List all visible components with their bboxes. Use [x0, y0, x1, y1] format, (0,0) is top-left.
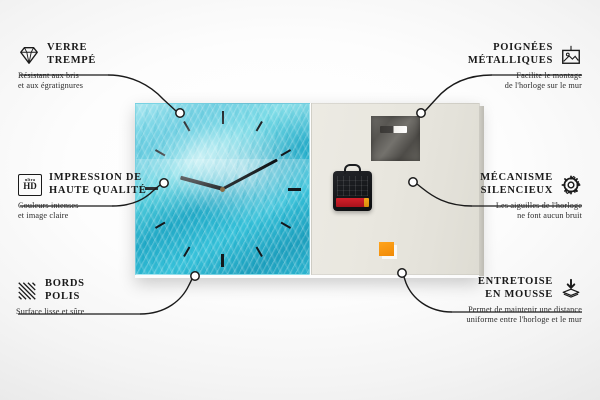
feature-title: POIGNÉES MÉTALLIQUES: [468, 42, 553, 67]
clock-center-pin: [220, 187, 225, 192]
feature-header: POIGNÉES MÉTALLIQUES: [402, 42, 582, 67]
feature-description: Permet de maintenir une distance uniform…: [402, 305, 582, 325]
clock-mechanism: [333, 171, 372, 211]
feature-description: Résistant aux bris et aux égratignures: [18, 71, 198, 91]
clock-hour-mark-bar: [280, 149, 291, 156]
ultra-hd-icon: ultra HD: [18, 174, 42, 196]
spacer-arrow-icon: [560, 278, 582, 300]
feature-title: BORDS POLIS: [45, 278, 85, 303]
feature-header: MÉCANISME SILENCIEUX: [402, 172, 582, 197]
gear-icon: [560, 174, 582, 196]
feature-header: VERRE TREMPÉ: [18, 42, 198, 67]
clock-hour-mark: [223, 188, 301, 190]
feature-description: Les aiguilles de l'horloge ne font aucun…: [402, 201, 582, 221]
clock-hour-mark-bar: [288, 188, 301, 191]
feature-title-line2: TREMPÉ: [47, 55, 96, 68]
clock-hour-mark-bar: [222, 111, 225, 124]
clock-hour-mark: [222, 121, 263, 190]
feature-description: Facilite le montage de l'horloge sur le …: [402, 71, 582, 91]
polished-edges-icon: [16, 280, 38, 302]
feature-desc-line2: ne font aucun bruit: [402, 211, 582, 221]
feature-desc-line2: et aux égratignures: [18, 81, 198, 91]
feature-description: Couleurs intenses et image claire: [18, 201, 198, 221]
feature-title-line1: POIGNÉES: [468, 42, 553, 55]
feature-desc-line1: Les aiguilles de l'horloge: [402, 201, 582, 211]
clock-hour-mark-bar: [221, 254, 224, 267]
feature-verre-trempe: VERRE TREMPÉ Résistant aux bris et aux é…: [18, 42, 198, 91]
clock-hour-mark-bar: [183, 121, 190, 132]
feature-header: BORDS POLIS: [16, 278, 196, 303]
battery: [336, 198, 366, 207]
clock-hour-mark: [222, 111, 224, 189]
metal-hanger-plate-icon: [371, 116, 420, 161]
feature-title-line1: ENTRETOISE: [478, 276, 553, 289]
picture-hanger-icon: [560, 44, 582, 66]
feature-title-line1: VERRE: [47, 42, 96, 55]
feature-title-line2: MÉTALLIQUES: [468, 55, 553, 68]
feature-desc-line1: Surface lisse et sûre: [16, 307, 196, 317]
feature-title: VERRE TREMPÉ: [47, 42, 96, 67]
glass-reflection-top: [136, 104, 309, 150]
mechanism-texture: [337, 176, 368, 196]
clock-hour-mark-bar: [183, 247, 190, 258]
feature-title-line1: IMPRESSION DE: [49, 172, 147, 185]
feature-poignees-metalliques: POIGNÉES MÉTALLIQUES Facilite le montage…: [402, 42, 582, 91]
feature-description: Surface lisse et sûre: [16, 307, 196, 317]
clock-hour-mark: [222, 189, 224, 267]
feature-impression-haute-qualite: ultra HD IMPRESSION DE HAUTE QUALITÉ Cou…: [18, 172, 198, 221]
clock-hour-mark-bar: [154, 222, 165, 229]
feature-title-line2: POLIS: [45, 291, 85, 304]
clock-minute-hand: [222, 159, 278, 191]
feature-desc-line1: Résistant aux bris: [18, 71, 198, 81]
feature-bords-polis: BORDS POLIS Surface lisse et sûre: [16, 278, 196, 317]
feature-title: MÉCANISME SILENCIEUX: [480, 172, 553, 197]
feature-header: ultra HD IMPRESSION DE HAUTE QUALITÉ: [18, 172, 198, 197]
feature-desc-line1: Couleurs intenses: [18, 201, 198, 211]
feature-header: ENTRETOISE EN MOUSSE: [402, 276, 582, 301]
feature-desc-line2: uniforme entre l'horloge et le mur: [402, 315, 582, 325]
feature-desc-line2: de l'horloge sur le mur: [402, 81, 582, 91]
clock-hour-mark: [222, 149, 291, 190]
feature-title: ENTRETOISE EN MOUSSE: [478, 276, 553, 301]
feature-desc-line1: Facilite le montage: [402, 71, 582, 81]
diamond-icon: [18, 44, 40, 66]
feature-entretoise-en-mousse: ENTRETOISE EN MOUSSE Permet de maintenir…: [402, 276, 582, 325]
feature-mecanisme-silencieux: MÉCANISME SILENCIEUX Les aiguilles de l'…: [402, 172, 582, 221]
clock-hour-mark-bar: [255, 121, 262, 132]
feature-title-line2: HAUTE QUALITÉ: [49, 185, 147, 198]
clock-hour-mark-bar: [255, 247, 262, 258]
feature-desc-line2: et image claire: [18, 211, 198, 221]
feature-desc-line1: Permet de maintenir une distance: [402, 305, 582, 315]
feature-title-line1: MÉCANISME: [480, 172, 553, 185]
clock-hour-mark: [222, 189, 263, 258]
ultra-hd-icon-hd: HD: [23, 182, 37, 192]
clock-hour-mark-bar: [280, 222, 291, 229]
mechanism-hanging-loop: [344, 164, 361, 174]
feature-title-line2: EN MOUSSE: [478, 289, 553, 302]
feature-title: IMPRESSION DE HAUTE QUALITÉ: [49, 172, 147, 197]
feature-title-line1: BORDS: [45, 278, 85, 291]
clock-hour-mark-bar: [154, 149, 165, 156]
feature-title-line2: SILENCIEUX: [480, 185, 553, 198]
hanger-slot: [380, 126, 407, 133]
foam-spacer: [379, 242, 394, 256]
